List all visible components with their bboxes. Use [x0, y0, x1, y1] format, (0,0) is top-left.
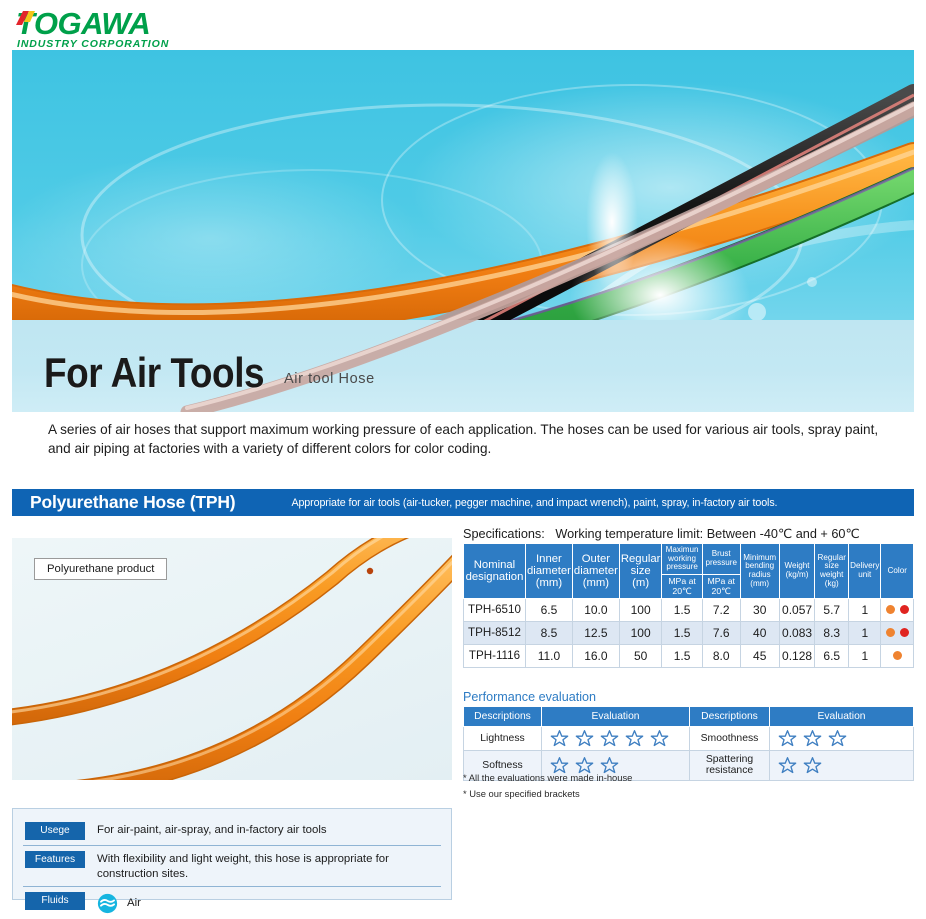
cell-bend-radius: 30: [740, 598, 779, 621]
spec-heading-label: Specifications:: [463, 527, 545, 541]
spec-col-nominal: Nominaldesignation: [464, 544, 526, 599]
cell-size-weight: 8.3: [815, 621, 849, 644]
color-dot: [886, 605, 895, 614]
color-dot: [900, 605, 909, 614]
logo-wordmark: TOGAWA: [12, 8, 150, 39]
info-row-usage: Usege For air-paint, air-spray, and in-f…: [23, 817, 441, 845]
footnote-item: * All the evaluations were made in-house: [463, 770, 632, 786]
star-icon: [778, 756, 797, 775]
perf-stars-lightness: [542, 727, 690, 751]
star-icon: [625, 729, 644, 748]
table-row: TPH-1116 11.0 16.0 50 1.5 8.0 45 0.128 6…: [464, 644, 914, 667]
cell-outer: 10.0: [572, 598, 619, 621]
cell-burst-pressure: 7.2: [702, 598, 740, 621]
cell-bend-radius: 45: [740, 644, 779, 667]
photo-caption: Polyurethane product: [34, 558, 167, 580]
water-wave-icon: [97, 893, 118, 914]
cell-burst-pressure: 7.6: [702, 621, 740, 644]
perf-col-descriptions-right: Descriptions: [690, 707, 770, 727]
section-title: Polyurethane Hose (TPH): [12, 492, 235, 513]
spec-col-bend-radius: Minimumbending radius(mm): [740, 544, 779, 599]
info-tag-fluids: Fluids: [25, 892, 85, 910]
table-row: Lightness Smoothness: [464, 727, 914, 751]
cell-inner: 8.5: [525, 621, 572, 644]
spec-col-size-weight: Regularsize weight(kg): [815, 544, 849, 599]
spec-col-burst-pressure: Brust pressure: [702, 544, 740, 575]
cell-size-weight: 5.7: [815, 598, 849, 621]
spec-subcol-burst-pressure-unit: MPa at 20℃: [702, 575, 740, 599]
perf-col-evaluation-right: Evaluation: [770, 707, 914, 727]
company-logo: TOGAWA INDUSTRY CORPORATION: [12, 8, 312, 52]
specifications-table: Nominaldesignation Innerdiameter(mm) Out…: [463, 543, 914, 668]
perf-stars-spattering-resistance: [770, 751, 914, 781]
cell-burst-pressure: 8.0: [702, 644, 740, 667]
cell-delivery-unit: 1: [849, 621, 881, 644]
spec-col-inner-diameter: Innerdiameter(mm): [525, 544, 572, 599]
spec-col-max-pressure: Maximun workingpressure: [662, 544, 702, 575]
cell-max-pressure: 1.5: [662, 598, 702, 621]
info-row-features: Features With flexibility and light weig…: [23, 845, 441, 887]
spec-col-weight: Weight(kg/m): [779, 544, 815, 599]
usage-info-box: Usege For air-paint, air-spray, and in-f…: [12, 808, 452, 900]
spec-header-row: Nominaldesignation Innerdiameter(mm) Out…: [464, 544, 914, 575]
hero-subtitle: Air tool Hose: [284, 371, 375, 387]
cell-nominal: TPH-8512: [464, 621, 526, 644]
star-icon: [803, 729, 822, 748]
section-note: Appropriate for air tools (air-tucker, p…: [291, 497, 777, 509]
perf-label-lightness: Lightness: [464, 727, 542, 751]
cell-color: [881, 598, 914, 621]
info-text-fluids: Air: [127, 896, 141, 911]
footnote-item: * Use our specified brackets: [463, 786, 632, 802]
cell-max-pressure: 1.5: [662, 621, 702, 644]
cell-color: [881, 644, 914, 667]
intro-paragraph: A series of air hoses that support maxim…: [48, 421, 888, 459]
hero-title: For Air Tools: [44, 352, 264, 394]
perf-label-spattering-resistance: Spattering resistance: [690, 751, 770, 781]
info-text-features: With flexibility and light weight, this …: [97, 851, 439, 882]
table-row: TPH-8512 8.5 12.5 100 1.5 7.6 40 0.083 8…: [464, 621, 914, 644]
spec-subcol-max-pressure-unit: MPa at 20℃: [662, 575, 702, 599]
cell-bend-radius: 40: [740, 621, 779, 644]
performance-footnotes: * All the evaluations were made in-house…: [463, 770, 632, 801]
star-icon: [600, 729, 619, 748]
info-text-usage: For air-paint, air-spray, and in-factory…: [97, 822, 327, 838]
info-tag-features: Features: [25, 851, 85, 869]
star-icon: [550, 729, 569, 748]
cell-color: [881, 621, 914, 644]
star-icon: [803, 756, 822, 775]
cell-size-weight: 6.5: [815, 644, 849, 667]
color-dot: [893, 651, 902, 660]
cell-regular-size: 50: [619, 644, 662, 667]
perf-label-smoothness: Smoothness: [690, 727, 770, 751]
info-tag-usage: Usege: [25, 822, 85, 840]
logo-name: TOGAWA: [16, 6, 150, 41]
spec-table-body: TPH-6510 6.5 10.0 100 1.5 7.2 30 0.057 5…: [464, 598, 914, 667]
cell-regular-size: 100: [619, 598, 662, 621]
performance-title: Performance evaluation: [463, 690, 596, 704]
cell-outer: 16.0: [572, 644, 619, 667]
spec-heading: Specifications: Working temperature limi…: [463, 526, 860, 541]
color-dot: [886, 628, 895, 637]
cell-delivery-unit: 1: [849, 644, 881, 667]
perf-col-evaluation-left: Evaluation: [542, 707, 690, 727]
product-photo: Polyurethane product: [12, 538, 452, 780]
perf-stars-smoothness: [770, 727, 914, 751]
cell-regular-size: 100: [619, 621, 662, 644]
cell-delivery-unit: 1: [849, 598, 881, 621]
cell-max-pressure: 1.5: [662, 644, 702, 667]
perf-col-descriptions-left: Descriptions: [464, 707, 542, 727]
section-header: Polyurethane Hose (TPH) Appropriate for …: [12, 489, 914, 516]
cell-inner: 6.5: [525, 598, 572, 621]
cell-outer: 12.5: [572, 621, 619, 644]
star-icon: [575, 729, 594, 748]
performance-table-header: Descriptions Evaluation Descriptions Eva…: [464, 707, 914, 727]
spec-table-header: Nominaldesignation Innerdiameter(mm) Out…: [464, 544, 914, 599]
spec-col-outer-diameter: Outerdiameter(mm): [572, 544, 619, 599]
spec-col-regular-size: Regularsize(m): [619, 544, 662, 599]
star-icon: [650, 729, 669, 748]
info-row-fluids: Fluids Air: [23, 886, 441, 919]
spec-heading-note: Working temperature limit: Between -40℃ …: [555, 527, 859, 541]
spec-col-delivery-unit: Deliveryunit: [849, 544, 881, 599]
cell-inner: 11.0: [525, 644, 572, 667]
star-icon: [828, 729, 847, 748]
color-dot: [900, 628, 909, 637]
cell-weight: 0.057: [779, 598, 815, 621]
cell-weight: 0.083: [779, 621, 815, 644]
cell-weight: 0.128: [779, 644, 815, 667]
hero-banner: For Air Tools Air tool Hose: [12, 50, 914, 412]
star-icon: [778, 729, 797, 748]
spec-col-color: Color: [881, 544, 914, 599]
cell-nominal: TPH-1116: [464, 644, 526, 667]
performance-header-row: Descriptions Evaluation Descriptions Eva…: [464, 707, 914, 727]
cell-nominal: TPH-6510: [464, 598, 526, 621]
table-row: TPH-6510 6.5 10.0 100 1.5 7.2 30 0.057 5…: [464, 598, 914, 621]
